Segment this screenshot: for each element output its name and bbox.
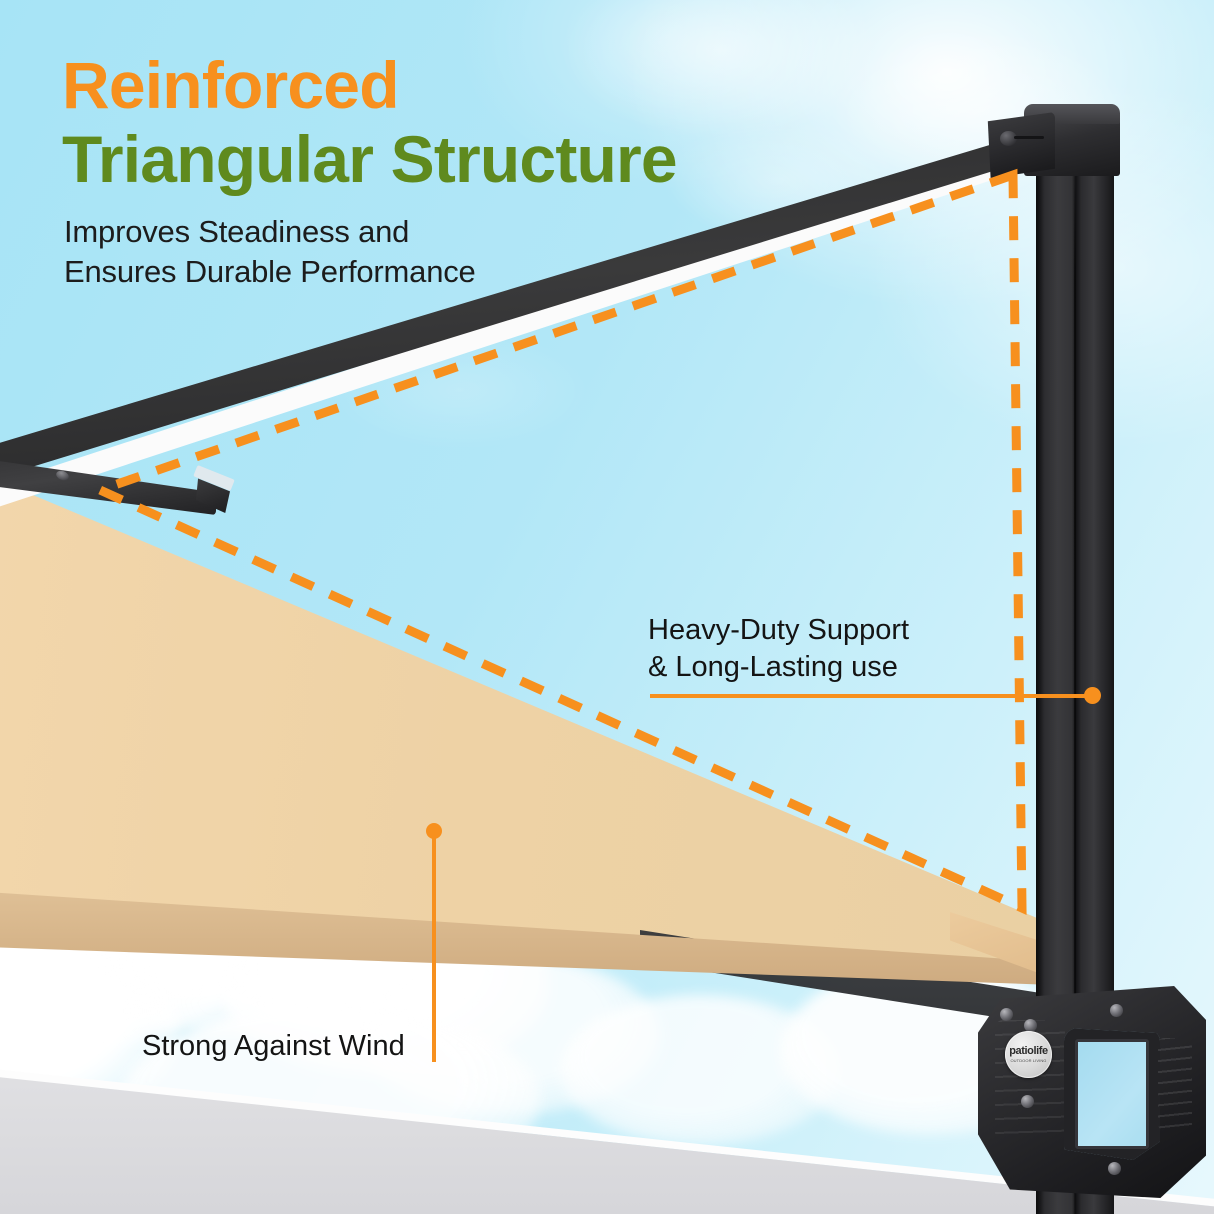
callout-heavy-duty-leader-line <box>650 694 1092 698</box>
callout-wind-leader-dot <box>426 823 442 839</box>
brand-badge-mark: patiolife <box>1009 1046 1048 1057</box>
crank-handle-grip-opening <box>1064 1028 1160 1160</box>
callout-heavy-duty-line-2: & Long-Lasting use <box>648 649 909 686</box>
handle-screw-icon <box>1021 1095 1034 1108</box>
callout-heavy-duty-leader-dot <box>1084 687 1101 704</box>
product-feature-graphic: patiolife OUTDOOR LIVING Reinforced Tria… <box>0 0 1214 1214</box>
subheadline-line-1: Improves Steadiness and <box>64 214 409 250</box>
headline-line-2: Triangular Structure <box>62 126 677 192</box>
handle-screw-icon <box>1024 1019 1037 1032</box>
headline-line-1: Reinforced <box>62 52 399 118</box>
handle-grip-texture <box>1158 1038 1192 1130</box>
brand-badge-subtext: OUTDOOR LIVING <box>1010 1059 1046 1063</box>
callout-heavy-duty-support: Heavy-Duty Support & Long-Lasting use <box>648 612 909 686</box>
callout-strong-against-wind: Strong Against Wind <box>142 1030 405 1063</box>
bracket-slot <box>1014 136 1044 139</box>
top-pivot-bracket <box>985 112 1055 178</box>
subheadline-line-2: Ensures Durable Performance <box>64 254 476 290</box>
handle-screw-icon <box>1108 1162 1121 1175</box>
handle-screw-icon <box>1110 1004 1123 1017</box>
brand-badge: patiolife OUTDOOR LIVING <box>1005 1031 1052 1078</box>
callout-heavy-duty-line-1: Heavy-Duty Support <box>648 612 909 649</box>
callout-wind-leader-line <box>432 830 436 1062</box>
handle-screw-icon <box>1000 1008 1013 1021</box>
